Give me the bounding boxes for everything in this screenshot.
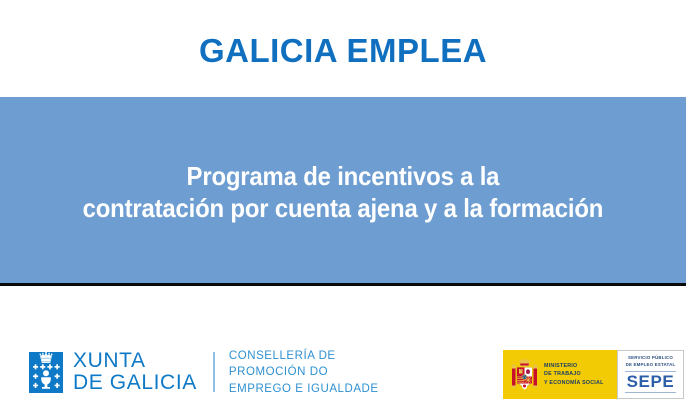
sepe-logo: SERVICIO PÚBLICO DE EMPLEO ESTATAL SEPE: [617, 350, 684, 399]
gobierno-sepe-logo-group: MINISTERIO DE TRABAJO Y ECONOMÍA SOCIAL …: [503, 350, 684, 399]
conselleria-line-3: EMPREGO E IGUALDADE: [229, 381, 379, 397]
page-title: GALICIA EMPLEA: [199, 30, 487, 67]
ministerio-line-3: Y ECONOMÍA SOCIAL: [544, 379, 604, 387]
ministerio-line-2: DE TRABAJO: [544, 370, 604, 378]
xunta-wordmark-line-2: DE GALICIA: [73, 372, 197, 395]
ministerio-line-1: MINISTERIO: [544, 362, 604, 370]
ministerio-text-block: MINISTERIO DE TRABAJO Y ECONOMÍA SOCIAL: [544, 362, 604, 386]
sepe-subtitle-line-2: DE EMPLEO ESTATAL: [626, 362, 676, 369]
conselleria-line-2: PROMOCIÓN DO: [229, 364, 379, 380]
banner-line-2: contratación por cuenta ajena y a la for…: [83, 192, 604, 225]
xunta-shield-icon: [29, 352, 63, 393]
sepe-subtitle-line-1: SERVICIO PÚBLICO: [626, 355, 676, 362]
logo-divider: [213, 352, 215, 392]
banner-text-block: Programa de incentivos a la contratación…: [83, 156, 604, 225]
conselleria-block: CONSELLERÍA DE PROMOCIÓN DO EMPREGO E IG…: [229, 348, 379, 397]
ministerio-trabajo-logo: MINISTERIO DE TRABAJO Y ECONOMÍA SOCIAL: [503, 350, 617, 399]
xunta-de-galicia-logo: XUNTA DE GALICIA CONSELLERÍA DE PROMOCIÓ…: [29, 348, 379, 397]
xunta-wordmark-line-1: XUNTA: [73, 349, 146, 372]
title-area: GALICIA EMPLEA: [0, 0, 686, 97]
banner-line-1: Programa de incentivos a la: [83, 160, 604, 193]
sepe-wordmark: SEPE: [625, 371, 677, 393]
spain-coat-of-arms-icon: [511, 358, 538, 392]
sepe-subtitle: SERVICIO PÚBLICO DE EMPLEO ESTATAL: [626, 355, 676, 368]
xunta-wordmark: XUNTA DE GALICIA: [73, 350, 197, 395]
conselleria-line-1: CONSELLERÍA DE: [229, 348, 379, 364]
footer-logo-strip: XUNTA DE GALICIA CONSELLERÍA DE PROMOCIÓ…: [0, 286, 686, 410]
program-banner: Programa de incentivos a la contratación…: [0, 97, 686, 283]
